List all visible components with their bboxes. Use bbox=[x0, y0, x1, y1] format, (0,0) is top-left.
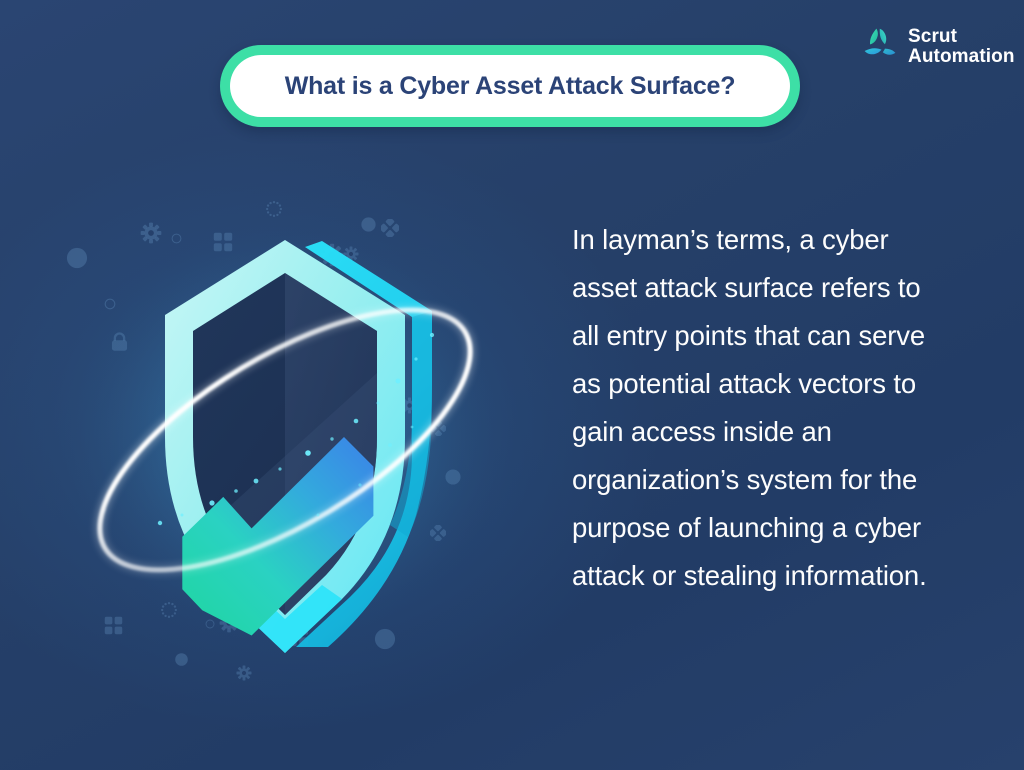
gear-icon bbox=[236, 665, 252, 681]
brand-name-line1: Scrut bbox=[908, 27, 1015, 47]
brand-name-line2: Automation bbox=[908, 47, 1015, 67]
page-title: What is a Cyber Asset Attack Surface? bbox=[285, 72, 736, 101]
infographic-canvas: What is a Cyber Asset Attack Surface? In… bbox=[0, 0, 1024, 770]
brand-logo: Scrut Automation bbox=[857, 26, 1015, 68]
page-title-banner-inner: What is a Cyber Asset Attack Surface? bbox=[230, 55, 790, 117]
cyber-security-shield-illustration bbox=[60, 185, 520, 665]
brand-name: Scrut Automation bbox=[908, 27, 1015, 67]
scrut-trefoil-logo-icon bbox=[857, 26, 899, 68]
page-title-banner: What is a Cyber Asset Attack Surface? bbox=[220, 45, 800, 127]
definition-paragraph: In layman’s terms, a cyber asset attack … bbox=[572, 216, 930, 600]
